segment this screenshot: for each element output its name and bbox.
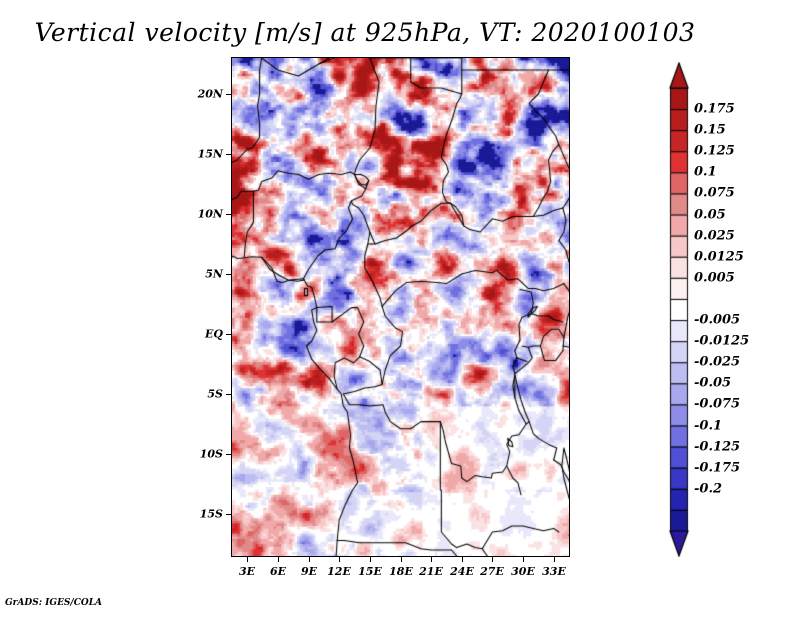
y-axis-tick [226,154,231,155]
y-axis-tick [226,514,231,515]
y-axis-tick [226,394,231,395]
colorbar-tick-label: -0.05 [694,376,731,391]
x-axis-label: 21E [419,565,443,578]
colorbar-tick-label: 0.0125 [694,249,744,264]
x-axis-label: 30E [511,565,535,578]
grads-credit: GrADS: IGES/COLA [5,598,102,608]
y-axis-tick [226,274,231,275]
x-axis-tick [462,557,463,562]
y-axis-label: 15N [179,148,223,161]
x-axis-label: 18E [389,565,413,578]
x-axis-tick [339,557,340,562]
x-axis-tick [492,557,493,562]
y-axis-label: 15S [179,508,223,521]
x-axis-tick [370,557,371,562]
x-axis-tick [554,557,555,562]
x-axis-tick [431,557,432,562]
x-axis-label: 33E [542,565,566,578]
x-axis-tick [401,557,402,562]
colorbar-tick-label: 0.175 [694,102,735,117]
y-axis-label: 10S [179,448,223,461]
x-axis-tick [278,557,279,562]
colorbar-tick-label: -0.1 [694,418,722,433]
y-axis-label: 5S [179,388,223,401]
y-axis-label: 5N [179,268,223,281]
x-axis-label: 6E [270,565,286,578]
colorbar-tick-label: -0.025 [694,355,740,370]
x-axis-label: 9E [301,565,317,578]
y-axis-label: 20N [179,88,223,101]
colorbar: 0.1750.150.1250.10.0750.050.0250.01250.0… [668,62,798,557]
x-axis-label: 3E [239,565,255,578]
y-axis-label: EQ [179,328,223,341]
colorbar-tick-label: 0.075 [694,186,735,201]
colorbar-tick-label: -0.125 [694,439,740,454]
colorbar-tick-label: 0.125 [694,144,735,159]
vertical-velocity-field [232,58,569,556]
colorbar-tick-label: 0.005 [694,270,735,285]
colorbar-tick-label: -0.175 [694,460,740,475]
colorbar-tick-label: 0.15 [694,123,726,138]
colorbar-tick-label: -0.0125 [694,334,749,349]
x-axis-tick [523,557,524,562]
x-axis-label: 24E [450,565,474,578]
colorbar-tick-label: -0.005 [694,313,740,328]
y-axis-tick [226,334,231,335]
colorbar-tick-label: 0.1 [694,165,717,180]
colorbar-tick-label: 0.05 [694,207,726,222]
x-axis-label: 27E [480,565,504,578]
y-axis-tick [226,214,231,215]
x-axis-label: 15E [358,565,382,578]
y-axis-tick [226,454,231,455]
page-title: Vertical velocity [m/s] at 925hPa, VT: 2… [0,18,730,47]
colorbar-tick-label: -0.075 [694,397,740,412]
y-axis-tick [226,94,231,95]
x-axis-tick [247,557,248,562]
x-axis-tick [309,557,310,562]
colorbar-tick-label: 0.025 [694,228,735,243]
x-axis-label: 12E [327,565,351,578]
map-plot-area [231,57,570,557]
y-axis-label: 10N [179,208,223,221]
colorbar-tick-label: -0.2 [694,481,722,496]
